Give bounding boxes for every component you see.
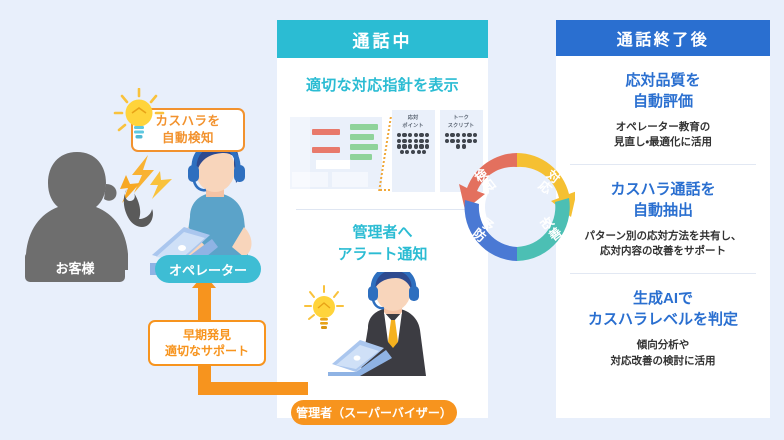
callout-line-2: 自動検知 (162, 130, 214, 147)
card-1-line-1: 応対 (392, 115, 435, 123)
section-2-title-line-1: カスハラ通話を (566, 179, 760, 200)
section-2-desc-line-2: 応対内容の改善をサポート (566, 244, 760, 260)
customer-label: お客様 (25, 252, 125, 282)
card-2-line-2: スクリプト (440, 123, 483, 131)
card-title-1: 応対 ポイント (392, 115, 435, 130)
operator-label: オペレーター (155, 255, 261, 283)
section-1-desc-line-1: オペレーター教育の (566, 120, 760, 136)
after-call-section-2: カスハラ通話を 自動抽出 パターン別の応対方法を共有し、 応対内容の改善をサポー… (556, 165, 770, 260)
mock-bar-green-2 (350, 134, 374, 140)
after-call-panel: 通話終了後 応対品質を 自動評価 オペレーター教育の 見直し・最適化に活用 カス… (556, 20, 770, 418)
during-call-panel: 通話中 適切な対応指針を表示 応対 ポイント (277, 20, 488, 418)
alert-title-line-1: 管理者へ (277, 222, 488, 244)
during-call-header: 通話中 (277, 20, 488, 58)
supervisor-illustration (288, 272, 478, 376)
early-support-callout: 早期発見 適切なサポート (148, 320, 266, 366)
section-1-desc-line-2: 見直し・最適化に活用 (566, 135, 760, 151)
section-3-title: 生成AIで カスハラレベルを判定 (566, 288, 760, 331)
mock-box-2 (332, 172, 368, 187)
after-call-section-1: 応対品質を 自動評価 オペレーター教育の 見直し・最適化に活用 (556, 56, 770, 151)
card-1-line-2: ポイント (392, 123, 435, 131)
mock-bar-red-1 (312, 129, 340, 135)
section-3-desc: 傾向分析や 対応改善の検討に活用 (566, 338, 760, 370)
pdca-cycle-diagram: 検知 対応 改善 予防 (459, 148, 575, 266)
guidance-screen-mockup: 応対 ポイント トーク スクリプト (288, 107, 478, 199)
panel-divider (296, 209, 470, 210)
support-line-1: 早期発見 (183, 327, 231, 343)
section-1-title-line-1: 応対品質を (566, 70, 760, 91)
feedback-arrow-horizontal (198, 382, 308, 395)
infographic-stage: カスハラを 自動検知 お客様 (0, 0, 784, 440)
section-3-title-line-1: 生成AIで (566, 288, 760, 309)
section-1-title: 応対品質を 自動評価 (566, 70, 760, 113)
mock-bar-green-1 (350, 124, 378, 130)
guidance-title: 適切な対応指針を表示 (277, 74, 488, 95)
section-3-desc-line-1: 傾向分析や (566, 338, 760, 354)
mock-bar-green-4 (350, 154, 372, 160)
mock-bar-red-2 (312, 147, 340, 153)
mock-sidebar (290, 117, 310, 189)
after-call-header: 通話終了後 (556, 20, 770, 56)
lightbulb-icon (112, 88, 166, 144)
card-2-line-1: トーク (440, 115, 483, 123)
operator-illustration (150, 135, 276, 275)
section-2-title: カスハラ通話を 自動抽出 (566, 179, 760, 222)
alert-title-line-2: アラート通知 (277, 244, 488, 266)
section-1-desc: オペレーター教育の 見直し・最適化に活用 (566, 120, 760, 152)
mock-bar-green-3 (350, 144, 378, 150)
card-2-dots (440, 130, 483, 148)
section-1-title-line-2: 自動評価 (566, 91, 760, 112)
section-3-title-line-2: カスハラレベルを判定 (566, 309, 760, 330)
section-2-title-line-2: 自動抽出 (566, 200, 760, 221)
card-1-dots (392, 130, 435, 154)
mock-white-1 (316, 160, 350, 169)
after-call-section-3: 生成AIで カスハラレベルを判定 傾向分析や 対応改善の検討に活用 (556, 274, 770, 369)
lightbulb-icon (305, 286, 343, 329)
card-response-points: 応対 ポイント (392, 110, 435, 192)
section-3-desc-line-2: 対応改善の検討に活用 (566, 354, 760, 370)
card-title-2: トーク スクリプト (440, 115, 483, 130)
section-2-desc: パターン別の応対方法を共有し、 応対内容の改善をサポート (566, 229, 760, 261)
supervisor-label: 管理者（スーパーバイザー） (291, 400, 457, 425)
alert-title: 管理者へ アラート通知 (277, 222, 488, 266)
left-call-scene: カスハラを 自動検知 お客様 (0, 0, 277, 440)
section-2-desc-line-1: パターン別の応対方法を共有し、 (566, 229, 760, 245)
feedback-arrow-upper (198, 286, 211, 322)
support-line-2: 適切なサポート (165, 343, 249, 359)
